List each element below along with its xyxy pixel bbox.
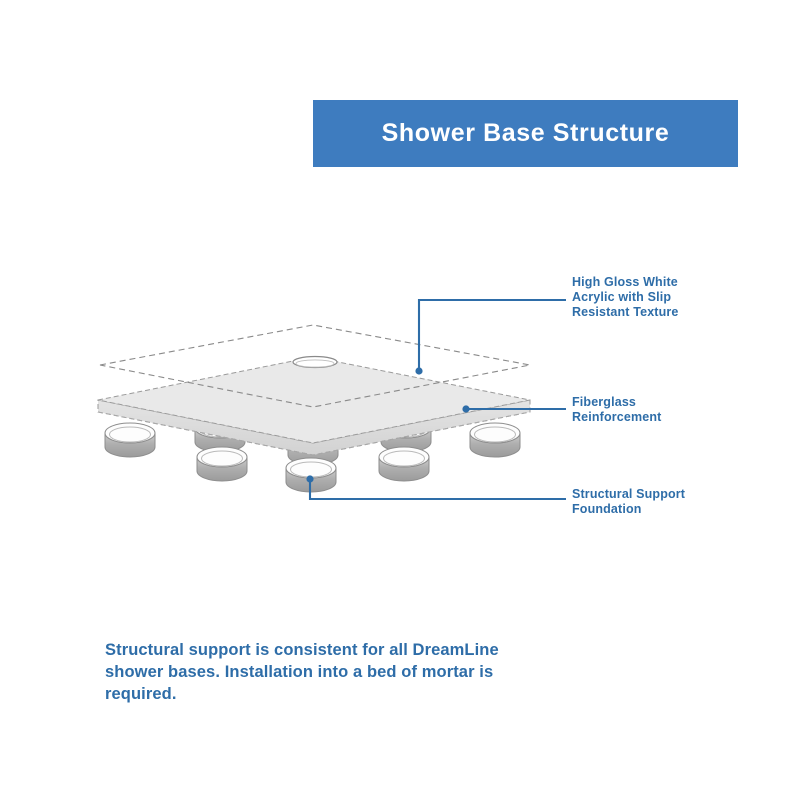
callout-label-support: Structural Support Foundation: [572, 487, 685, 517]
callout-leader-support: [306, 475, 566, 499]
footer-caption: Structural support is consistent for all…: [105, 639, 535, 705]
support-ring: [470, 423, 520, 457]
drain-opening: [293, 357, 337, 368]
diagram-page: Shower Base Structure: [0, 0, 806, 806]
callout-label-fiberglass: Fiberglass Reinforcement: [572, 395, 661, 425]
support-ring: [197, 447, 247, 481]
callout-label-acrylic: High Gloss White Acrylic with Slip Resis…: [572, 275, 679, 320]
support-ring: [105, 423, 155, 457]
callout-leader-acrylic: [415, 300, 566, 375]
support-ring: [379, 447, 429, 481]
